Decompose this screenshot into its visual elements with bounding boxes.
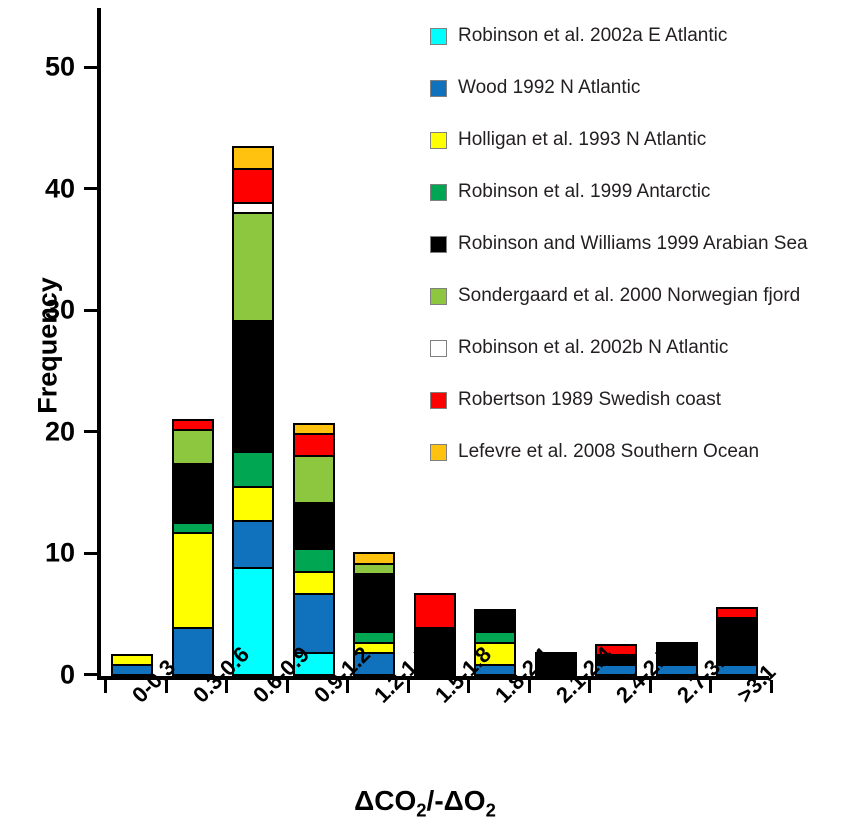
bar-segment[interactable] bbox=[232, 320, 274, 454]
legend-swatch-icon bbox=[430, 28, 447, 45]
legend-item[interactable]: Lefevre et al. 2008 Southern Ocean bbox=[430, 426, 850, 478]
bar-segment[interactable] bbox=[232, 520, 274, 569]
legend-item[interactable]: Robertson 1989 Swedish coast bbox=[430, 374, 850, 426]
legend-swatch-icon bbox=[430, 80, 447, 97]
bar-segment[interactable] bbox=[293, 433, 335, 457]
bar-segment[interactable] bbox=[293, 548, 335, 572]
y-axis-tick: 20 bbox=[84, 430, 97, 433]
y-axis-tick: 30 bbox=[84, 309, 97, 312]
y-axis-tick: 10 bbox=[84, 552, 97, 555]
legend-swatch-icon bbox=[430, 288, 447, 305]
legend-item[interactable]: Robinson et al. 2002b N Atlantic bbox=[430, 322, 850, 374]
x-axis-title-text: ΔCO bbox=[354, 785, 416, 816]
legend-item[interactable]: Wood 1992 N Atlantic bbox=[430, 62, 850, 114]
x-axis-title-mid: /-ΔO bbox=[427, 785, 486, 816]
legend-label: Robertson 1989 Swedish coast bbox=[458, 389, 721, 411]
bar-segment[interactable] bbox=[172, 429, 214, 465]
legend: Robinson et al. 2002a E AtlanticWood 199… bbox=[430, 10, 850, 478]
legend-label: Robinson and Williams 1999 Arabian Sea bbox=[458, 233, 808, 255]
legend-swatch-icon bbox=[430, 340, 447, 357]
bar-segment[interactable] bbox=[293, 502, 335, 551]
bar-segment[interactable] bbox=[414, 593, 456, 629]
bar-segment[interactable] bbox=[232, 486, 274, 522]
x-axis-title-sub-2: 2 bbox=[486, 800, 496, 821]
legend-label: Holligan et al. 1993 N Atlantic bbox=[458, 129, 706, 151]
x-axis-title: ΔCO2/-ΔO2 bbox=[0, 785, 850, 822]
legend-item[interactable]: Robinson et al. 2002a E Atlantic bbox=[430, 10, 850, 62]
legend-label: Sondergaard et al. 2000 Norwegian fjord bbox=[458, 285, 800, 307]
x-axis-title-sub-1: 2 bbox=[416, 800, 426, 821]
y-axis-tick-label: 40 bbox=[45, 173, 75, 204]
y-axis-tick-label: 10 bbox=[45, 538, 75, 569]
legend-swatch-icon bbox=[430, 132, 447, 149]
legend-item[interactable]: Robinson and Williams 1999 Arabian Sea bbox=[430, 218, 850, 270]
legend-label: Wood 1992 N Atlantic bbox=[458, 77, 640, 99]
y-axis-tick: 40 bbox=[84, 187, 97, 190]
chart-figure: Frequency 01020304050 0-0.30.3-0.60.6-0.… bbox=[0, 0, 850, 832]
bar-segment[interactable] bbox=[232, 212, 274, 321]
x-axis-tick bbox=[104, 680, 107, 693]
legend-item[interactable]: Holligan et al. 1993 N Atlantic bbox=[430, 114, 850, 166]
bar-segment[interactable] bbox=[172, 463, 214, 524]
bar-segment[interactable] bbox=[474, 609, 516, 633]
legend-swatch-icon bbox=[430, 184, 447, 201]
bar-0.6-0.9[interactable] bbox=[232, 146, 274, 676]
bar-segment[interactable] bbox=[232, 168, 274, 204]
bar-segment[interactable] bbox=[293, 571, 335, 595]
bar-0.9-1.2[interactable] bbox=[293, 423, 335, 676]
bar-segment[interactable] bbox=[172, 532, 214, 629]
bar-segment[interactable] bbox=[172, 627, 214, 676]
y-axis-line bbox=[97, 8, 101, 680]
y-axis-tick-label: 0 bbox=[60, 659, 75, 690]
legend-swatch-icon bbox=[430, 392, 447, 409]
bar-0.3-0.6[interactable] bbox=[172, 419, 214, 676]
legend-label: Robinson et al. 1999 Antarctic bbox=[458, 181, 710, 203]
y-axis-tick-label: 20 bbox=[45, 416, 75, 447]
y-axis-tick: 0 bbox=[84, 673, 97, 676]
y-axis-tick: 50 bbox=[84, 66, 97, 69]
legend-label: Robinson et al. 2002b N Atlantic bbox=[458, 337, 728, 359]
legend-swatch-icon bbox=[430, 444, 447, 461]
legend-swatch-icon bbox=[430, 236, 447, 253]
legend-item[interactable]: Sondergaard et al. 2000 Norwegian fjord bbox=[430, 270, 850, 322]
legend-label: Robinson et al. 2002a E Atlantic bbox=[458, 25, 727, 47]
bar-segment[interactable] bbox=[232, 146, 274, 170]
bar-segment[interactable] bbox=[353, 573, 395, 634]
bar-segment[interactable] bbox=[293, 455, 335, 504]
y-axis-tick-label: 30 bbox=[45, 295, 75, 326]
legend-label: Lefevre et al. 2008 Southern Ocean bbox=[458, 441, 759, 463]
legend-item[interactable]: Robinson et al. 1999 Antarctic bbox=[430, 166, 850, 218]
y-axis-tick-label: 50 bbox=[45, 52, 75, 83]
bar-segment[interactable] bbox=[232, 451, 274, 487]
